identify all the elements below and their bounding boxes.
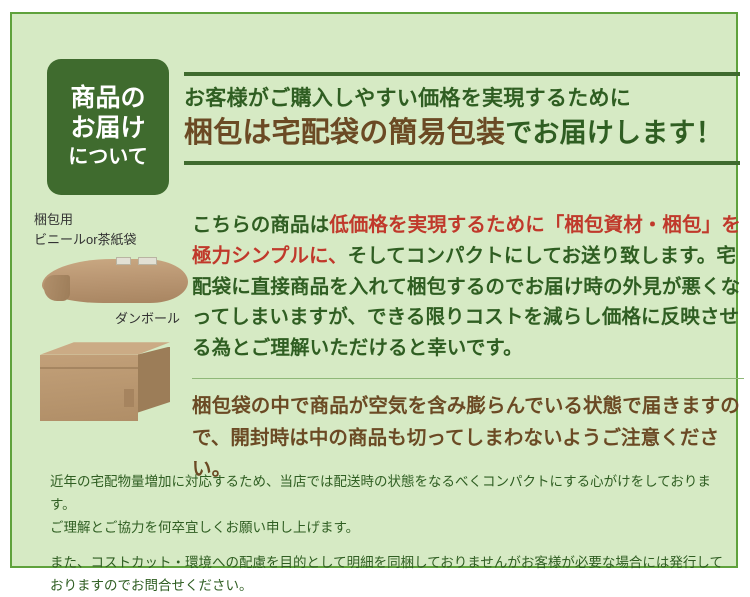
box-front-face	[40, 355, 138, 421]
para1-tail: そしてコンパクトにしてお送り致します。	[348, 245, 717, 267]
kraft-paper-bag-icon	[42, 255, 188, 309]
para1-lead: こちらの商品は	[192, 214, 329, 236]
bag-caption-line-2: ビニールor茶紙袋	[34, 230, 186, 250]
headline-tail: でお届けします！	[505, 118, 723, 148]
section-badge: 商品の お届け について	[47, 59, 169, 195]
headline-line-2: 梱包は宅配袋の簡易包装でお届けします！	[184, 115, 740, 153]
box-seam-line	[40, 367, 138, 369]
packaging-media-column: 梱包用 ビニールor茶紙袋 ダンボール	[34, 210, 186, 421]
headline-rule-top	[184, 72, 740, 76]
badge-line-1: 商品の	[70, 84, 145, 114]
footnote-line-2: ご理解とご協力を何卒宜しくお願い申し上げます。	[50, 516, 730, 539]
bag-fold-shape	[44, 275, 70, 301]
bag-label-a	[116, 257, 131, 265]
footnote-line-1: 近年の宅配物量増加に対応するため、当店では配送時の状態をなるべくコンパクトにする…	[50, 470, 730, 516]
shipping-info-panel: 商品の お届け について お客様がご購入しやすい価格を実現するために 梱包は宅配…	[10, 12, 738, 568]
box-side-face	[138, 347, 170, 413]
body-divider	[192, 378, 744, 379]
footnote-line-3: また、コストカット・環境への配慮を目的として明細を同梱しておりませんがお客様が必…	[50, 551, 730, 574]
headline-line-1: お客様がご購入しやすい価格を実現するために	[184, 85, 740, 113]
footnote-line-4: おりますのでお問合せください。	[50, 574, 730, 597]
para1-emphasis-2: 極力シンプルに、	[192, 245, 348, 267]
body-paragraph-1: こちらの商品は低価格を実現するために「梱包資材・梱包」を極力シンプルに、そしてコ…	[192, 210, 744, 364]
headline-rule-bottom	[184, 161, 740, 165]
box-tab	[124, 389, 134, 407]
badge-line-2: お届け	[70, 114, 145, 144]
bag-caption-line-1: 梱包用	[34, 210, 186, 230]
badge-line-3: について	[68, 146, 147, 170]
body-text-column: こちらの商品は低価格を実現するために「梱包資材・梱包」を極力シンプルに、そしてコ…	[192, 210, 744, 486]
headline-emphasis: 梱包は宅配袋の簡易包装	[184, 117, 505, 149]
cardboard-box-icon	[40, 337, 180, 421]
bag-label-b	[138, 257, 157, 265]
footnote-block: 近年の宅配物量増加に対応するため、当店では配送時の状態をなるべくコンパクトにする…	[50, 470, 730, 597]
headline-block: お客様がご購入しやすい価格を実現するために 梱包は宅配袋の簡易包装でお届けします…	[184, 72, 740, 165]
para1-emphasis-1: 低価格を実現するために「梱包資材・梱包」を	[329, 214, 741, 236]
box-caption: ダンボール	[34, 309, 186, 329]
